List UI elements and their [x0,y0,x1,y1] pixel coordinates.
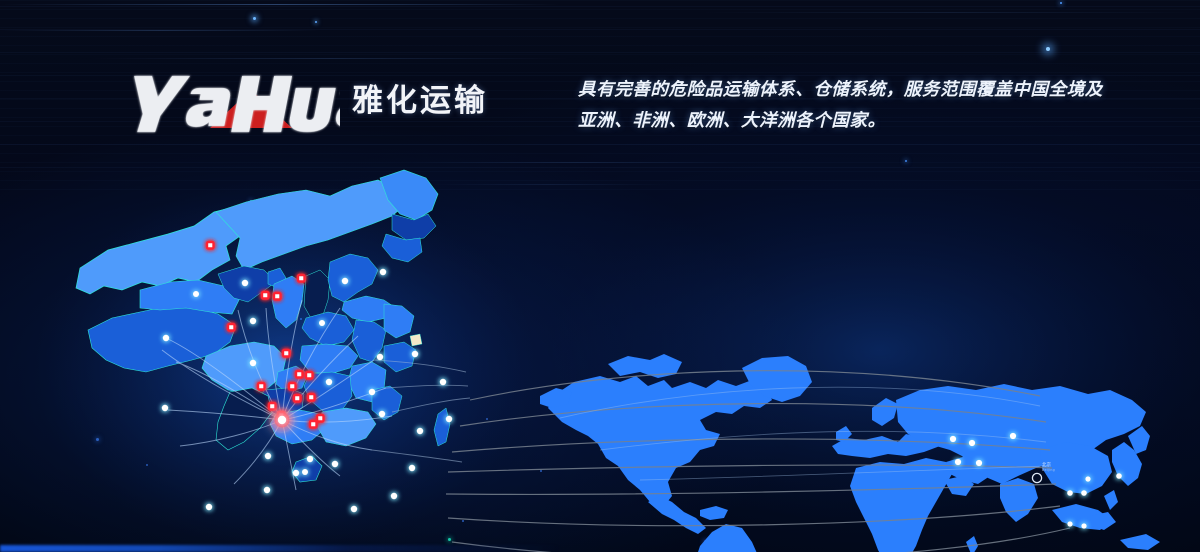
star [1060,2,1062,4]
china-city-dot [302,469,308,475]
bottom-glow-bar [0,545,560,552]
china-red-marker [289,383,296,390]
china-city-dot [193,291,199,297]
china-city-dot [162,405,168,411]
background-rule [90,58,570,59]
continent-png [1120,534,1160,550]
china-city-dot [412,351,418,357]
china-city-dot [264,487,270,493]
china-red-marker [296,371,303,378]
china-red-marker [298,275,305,282]
china-red-marker [317,415,324,422]
tagline: 具有完善的危险品运输体系、仓储系统，服务范围覆盖中国全境及 亚洲、非洲、欧洲、大… [578,75,1158,137]
china-city-dot [326,379,332,385]
china-red-marker [274,293,281,300]
china-city-dot [417,428,423,434]
china-red-marker [228,324,235,331]
china-city-dot [293,470,299,476]
china-city-dot [380,269,386,275]
china-red-marker [306,372,313,379]
world-city-dot [1067,490,1073,496]
china-city-dot [440,379,446,385]
china-city-dot [391,493,397,499]
continent-madagascar [966,536,978,552]
china-city-dot [351,506,357,512]
world-city-dot [969,440,975,446]
china-red-marker [207,242,214,249]
china-hub-node [269,407,295,433]
continent-philippines [1104,490,1118,510]
china-city-dot [206,504,212,510]
star [253,17,256,20]
china-city-dot [379,411,385,417]
china-city-dot [250,360,256,366]
yahua-wordmark-icon [110,66,340,140]
world-city-dot [1116,473,1122,479]
star [1046,47,1050,51]
continent-caribbean [700,506,728,520]
star [315,21,317,23]
world-city-dot [976,460,982,466]
china-city-dot [307,456,313,462]
china-city-dot [409,465,415,471]
china-city-dot [446,416,452,422]
china-city-dot [377,354,383,360]
china-red-marker [269,403,276,410]
china-red-marker [294,395,301,402]
china-city-dot [332,461,338,467]
beijing-label-cn: 北京 [1042,461,1052,468]
background-rule [700,12,1200,13]
china-city-dot [242,280,248,286]
background-rule [0,4,560,5]
china-red-marker [262,292,269,299]
world-city-dot [1010,433,1016,439]
tagline-line-1: 具有完善的危险品运输体系、仓储系统，服务范围覆盖中国全境及 [578,75,1158,106]
china-city-dot [369,389,375,395]
world-city-dot [1085,476,1090,481]
world-city-dot [950,436,956,442]
world-city-dot [955,459,961,465]
china-city-dot [319,320,325,326]
china-city-dot [163,335,169,341]
china-red-marker [283,350,290,357]
china-red-marker [308,394,315,401]
world-city-dot [1067,521,1072,526]
map-visualization: 北京 Beijing [0,150,1200,552]
china-city-dot [250,318,256,324]
beijing-label-en: Beijing [1042,468,1055,472]
company-name-cn: 雅化运输 [352,86,488,121]
china-red-marker [310,421,317,428]
continent-mexico-ca [648,496,706,534]
china-red-marker [258,383,265,390]
world-city-dot [1081,523,1086,528]
tagline-line-2: 亚洲、非洲、欧洲、大洋洲各个国家。 [578,106,1158,137]
promo-banner: 雅化运输 具有完善的危险品运输体系、仓储系统，服务范围覆盖中国全境及 亚洲、非洲… [0,0,1200,552]
province-shanghai [410,334,422,346]
brand-logo[interactable]: 雅化运输 [110,66,488,140]
china-city-dot [342,278,348,284]
background-rule [0,30,320,31]
world-city-dot [1081,490,1087,496]
china-city-dot [265,453,271,459]
